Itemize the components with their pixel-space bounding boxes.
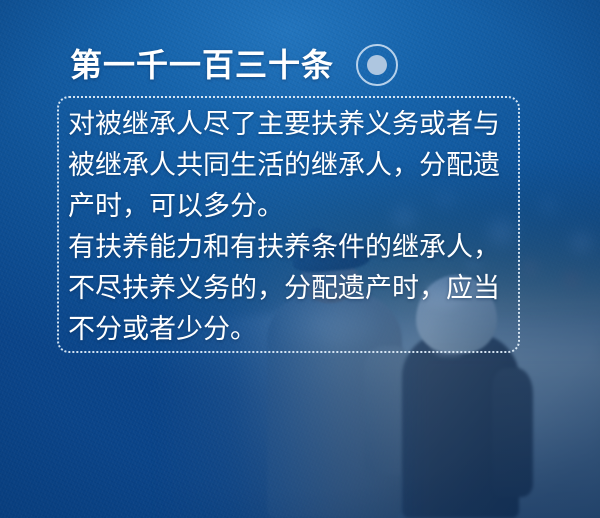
legal-clause-poster: 第一千一百三十条 对被继承人尽了主要扶养义务或者与被继承人共同生活的继承人，分配… [0, 0, 600, 518]
clause-paragraph-1: 对被继承人尽了主要扶养义务或者与被继承人共同生活的继承人，分配遗产时，可以多分。 [68, 104, 518, 227]
clause-text-block: 对被继承人尽了主要扶养义务或者与被继承人共同生活的继承人，分配遗产时，可以多分。… [68, 104, 518, 350]
circle-dot-core [367, 55, 387, 75]
clause-paragraph-2: 有扶养能力和有扶养条件的继承人，不尽扶养义务的，分配遗产时，应当不分或者少分。 [68, 227, 518, 350]
poster-header: 第一千一百三十条 [70, 44, 398, 86]
page-title: 第一千一百三十条 [70, 48, 334, 82]
circle-dot-icon [356, 44, 398, 86]
